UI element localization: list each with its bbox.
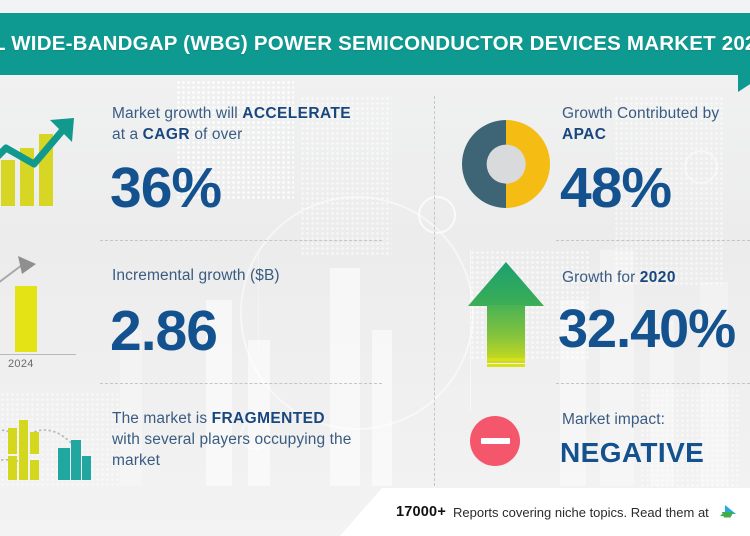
fragmentation-line1-prefix: The market is: [112, 410, 212, 427]
divider-row1-left: [100, 240, 382, 241]
cagr-lede-cagr: CAGR: [143, 126, 190, 143]
infographic-root: AL WIDE-BANDGAP (WBG) POWER SEMICONDUCTO…: [0, 0, 750, 536]
footer: 17000+ Reports covering niche topics. Re…: [0, 488, 750, 536]
apac-label-line2: APAC: [562, 126, 606, 143]
growth-2020-value: 32.40%: [558, 298, 735, 360]
city-cluster-right-2: [71, 440, 81, 480]
fragmentation-line3: market: [112, 452, 160, 469]
cagr-value: 36%: [110, 155, 221, 221]
apac-value: 48%: [560, 155, 671, 221]
page-title: AL WIDE-BANDGAP (WBG) POWER SEMICONDUCTO…: [0, 32, 750, 56]
city-cluster-mid-bot-3: [30, 460, 39, 480]
cagr-lede-line2-prefix: at a: [112, 126, 143, 143]
growth-chart-icon: [0, 128, 66, 206]
incremental-growth-label: Incremental growth ($B): [112, 265, 280, 286]
footer-report-count: 17000+: [396, 504, 446, 520]
divider-row2-right: [556, 383, 750, 384]
city-cluster-mid-top-1: [8, 428, 17, 454]
divider-row2-left: [100, 383, 382, 384]
fragmentation-line2: with several players occupying the: [112, 431, 351, 448]
fragmented-market-icon: [0, 400, 90, 482]
incremental-growth-value: 2.86: [110, 298, 217, 364]
banner-title-wrap: AL WIDE-BANDGAP (WBG) POWER SEMICONDUCTO…: [0, 13, 750, 75]
footer-message: Reports covering niche topics. Read them…: [453, 505, 709, 520]
cagr-lede: Market growth will ACCELERATE at a CAGR …: [112, 103, 412, 145]
cagr-lede-line2-suffix: of over: [190, 126, 243, 143]
up-arrow-tick-1: [487, 358, 525, 361]
apac-label: Growth Contributed by APAC: [562, 103, 750, 145]
negative-minus-icon: [470, 416, 520, 466]
city-cluster-mid-bot-1: [8, 456, 17, 480]
market-impact-label: Market impact:: [562, 409, 665, 430]
growth-2020-year: 2020: [640, 269, 676, 286]
city-cluster-right-3: [82, 456, 91, 480]
bar-2024-icon: 9 2024: [0, 258, 86, 368]
title-banner: AL WIDE-BANDGAP (WBG) POWER SEMICONDUCTO…: [0, 13, 750, 75]
up-arrow-head: [468, 262, 544, 306]
up-arrow-shaft: [487, 305, 525, 363]
fragmentation-text: The market is FRAGMENTED with several pl…: [112, 408, 422, 471]
city-cluster-mid-bot-2: [19, 450, 28, 480]
bar-chart-axis: [0, 354, 76, 355]
bar-label-2024: 2024: [8, 358, 34, 370]
donut-hole: [487, 145, 526, 184]
growth-2020-label-prefix: Growth for: [562, 269, 640, 286]
market-impact-value: NEGATIVE: [560, 437, 704, 469]
city-cluster-mid-top-2: [19, 420, 28, 454]
footer-content: 17000+ Reports covering niche topics. Re…: [340, 488, 750, 536]
divider-row1-right: [556, 240, 750, 241]
technavio-logo-icon[interactable]: [720, 505, 737, 520]
city-cluster-mid-top-3: [30, 432, 39, 454]
cagr-lede-line1-prefix: Market growth will: [112, 105, 242, 122]
city-cluster-right-1: [58, 448, 70, 480]
growth-2020-label: Growth for 2020: [562, 267, 676, 288]
apac-label-line1: Growth Contributed by: [562, 105, 719, 122]
up-arrow-tick-2: [487, 364, 525, 367]
minus-bar: [481, 438, 510, 445]
bar-2024-column: [15, 286, 37, 352]
divider-column: [434, 96, 435, 486]
cagr-lede-accelerate: ACCELERATE: [242, 105, 351, 122]
donut-chart-icon: [462, 120, 550, 208]
fragmentation-bold: FRAGMENTED: [212, 410, 325, 427]
up-arrow-icon: [468, 262, 544, 374]
banner-fold-decoration: [738, 75, 750, 92]
